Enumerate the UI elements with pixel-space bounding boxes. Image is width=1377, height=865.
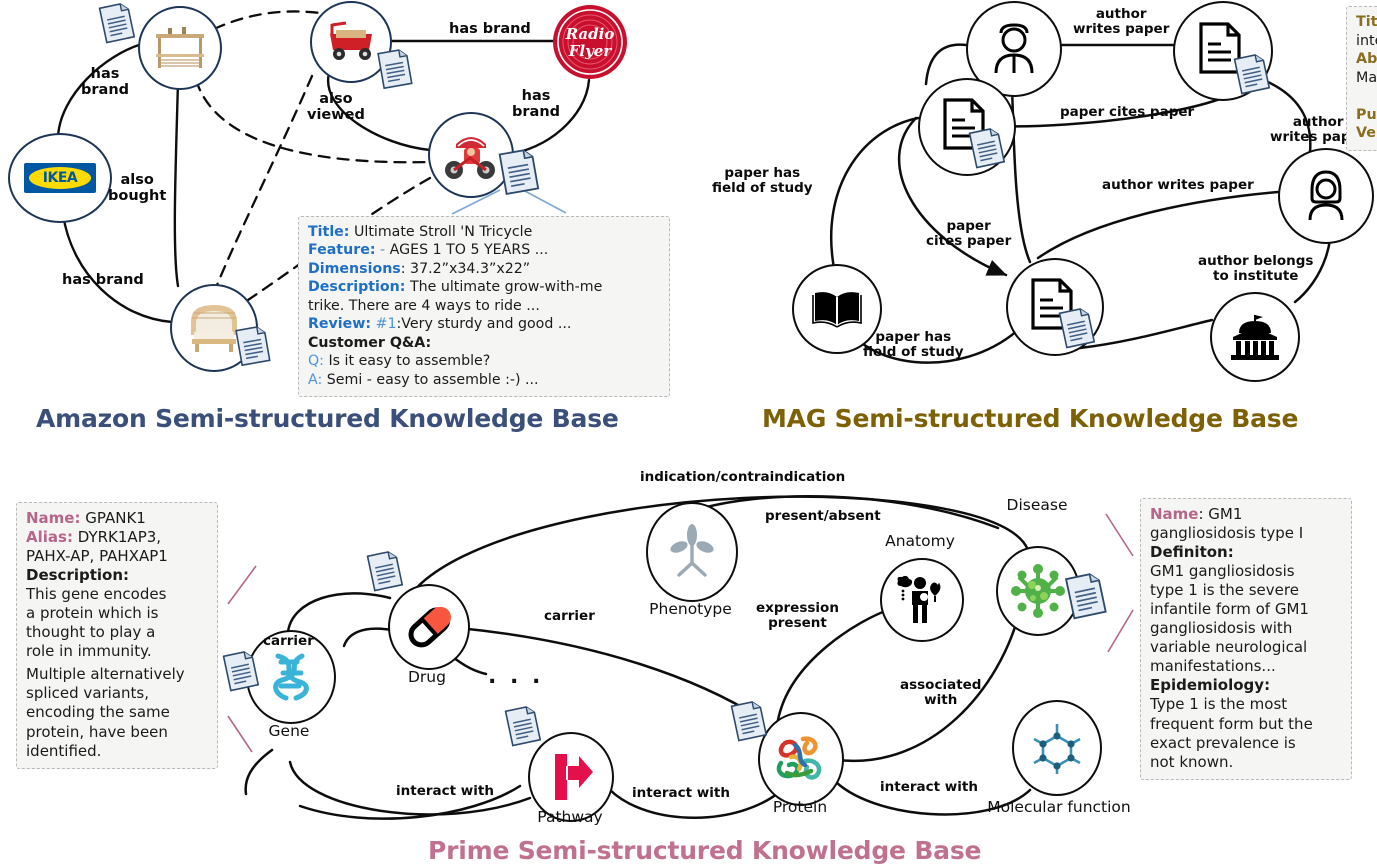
prime-edge-label-associated-with: associated with [900, 678, 981, 708]
amazon-panel-title: Amazon Semi-structured Knowledge Base [36, 404, 619, 433]
disease-card-epi-l4: not known. [1150, 753, 1342, 772]
amazon-edge-label-has-brand-4: has brand [512, 88, 560, 120]
disease-card-epi-l1: Type 1 is the most [1150, 695, 1342, 714]
paper-doc-icon-wagon [376, 48, 414, 90]
gene-card-desc-l1: This gene encodes [26, 585, 208, 604]
paper-doc-icon-tricycle [497, 148, 541, 196]
prime-node-label-phenotype: Phenotype [643, 600, 738, 618]
amazon-node-ikea[interactable]: IKEA [8, 133, 112, 223]
prime-node-label-disease: Disease [1000, 496, 1074, 514]
prime-edge-label-interact-pathway-protein: interact with [632, 786, 730, 801]
mag-card-venue-row: Venue: Chinese Physics B [1356, 124, 1377, 143]
prime-panel-title: Prime Semi-structured Knowledge Base [428, 836, 981, 865]
mag-card-abstract-row: Abstract: We study non- [1356, 50, 1377, 69]
callout-gene-1 [228, 566, 256, 604]
prime-disease-info-card: Name: GM1 gangliosidosis type I Definito… [1140, 498, 1352, 780]
edge-ikea-armchair [63, 214, 172, 322]
disease-card-def-l2: type 1 is the severe [1150, 581, 1342, 600]
amazon-card-feature-val: AGES 1 TO 5 YEARS ... [390, 242, 549, 258]
author-female-icon [1300, 168, 1352, 224]
gene-card-name-key: Name: [26, 509, 80, 527]
institute-building-icon [1227, 311, 1283, 363]
amazon-card-dimensions-val: : 37.2”x34.3”x22” [401, 261, 530, 277]
edge-gene-drug-carrier [288, 593, 390, 632]
paper-doc-icon-armchair [234, 325, 272, 367]
plant-sprout-icon [667, 523, 717, 581]
gene-card-desc-l3: thought to play a [26, 623, 208, 642]
radio-flyer-logo: Radio Flyer [552, 4, 628, 80]
disease-card-epi-l2: frequent form but the [1150, 715, 1342, 734]
disease-card-definition-key: Definiton: [1150, 543, 1342, 562]
amazon-card-review-row: Review: #1:Very sturdy and good ... [308, 315, 660, 333]
amazon-node-radio-flyer-brand[interactable]: Radio Flyer [552, 4, 628, 80]
prime-node-molecular-function[interactable] [1012, 700, 1102, 796]
mag-edge-label-author-writes-paper-3: author writes paper [1102, 178, 1254, 193]
gene-card-desc-l2: a protein which is [26, 604, 208, 623]
mag-paper-doc-icon-center-left [968, 127, 1006, 169]
amazon-card-feature-row: Feature: - AGES 1 TO 5 YEARS ... [308, 241, 660, 259]
mag-edge-label-paper-has-field-of-study-1: paper has field of study [712, 166, 813, 196]
pill-capsule-icon [402, 600, 456, 654]
prime-doc-icon-pathway [504, 705, 542, 747]
disease-card-name-val: : GM1 [1198, 505, 1242, 523]
amazon-card-description-row2: trike. There are 4 ways to ride ... [308, 297, 660, 315]
prime-node-label-anatomy: Anatomy [879, 532, 961, 550]
paper-doc-icon-shelf [98, 2, 136, 44]
amazon-card-a-row: A: Semi - easy to assemble :-) ... [308, 371, 660, 389]
mag-panel-title: MAG Semi-structured Knowledge Base [762, 404, 1298, 433]
amazon-node-shelf-product[interactable] [138, 6, 222, 90]
mag-node-institute[interactable] [1210, 292, 1300, 382]
edge-dashed-shelf-wagon [214, 11, 328, 29]
gene-card-desc-l6: spliced variants, [26, 684, 208, 703]
prime-edge-label-interact-protein-molfunc: interact with [880, 780, 978, 795]
prime-edge-label-indication: indication/contraindication [640, 470, 845, 485]
gene-card-desc-l5: Multiple alternatively [26, 665, 208, 684]
prime-node-label-protein: Protein [764, 798, 836, 816]
mag-card-venue-key: Venue: [1356, 125, 1377, 141]
disease-card-def-l1: GM1 gangliosidosis [1150, 562, 1342, 581]
prime-edge-label-carrier-gene-drug: carrier [263, 634, 314, 649]
svg-text:Flyer: Flyer [568, 42, 613, 60]
disease-card-name-row: Name: GM1 [1150, 505, 1342, 524]
mag-paper-info-card: Title: Distribution of non-Markovian int… [1346, 6, 1377, 151]
prime-ellipsis: . . . [488, 664, 543, 689]
protein-structure-icon [773, 731, 829, 787]
edge-drug-left-stub [344, 629, 392, 646]
prime-node-label-molecular-function: Molecular function [983, 798, 1135, 816]
gene-card-alias-row: Alias: DYRK1AP3, [26, 528, 208, 547]
disease-card-def-l4: gangliosidosis with [1150, 619, 1342, 638]
amazon-panel: IKEA [0, 0, 690, 400]
amazon-card-description-key: Description: [308, 279, 405, 295]
gene-card-name-val: GPANK1 [85, 509, 146, 527]
prime-node-label-pathway: Pathway [533, 808, 607, 826]
amazon-card-q-row: Q: Is it easy to assemble? [308, 352, 660, 370]
gene-card-desc-l9: identified. [26, 742, 208, 761]
mag-paper-doc-icon-bottom [1058, 307, 1096, 349]
amazon-edge-label-has-brand-2: has brand [62, 272, 144, 288]
amazon-card-description-val: The ultimate grow-with-me [410, 279, 602, 295]
gene-card-alias-val: DYRK1AP3, [78, 528, 161, 546]
mag-edge-label-paper-has-field-of-study-2: paper has field of study [863, 330, 964, 360]
mag-edge-label-author-writes-paper-1: author writes paper [1073, 7, 1169, 37]
amazon-edge-label-has-brand-1: has brand [81, 66, 129, 98]
prime-node-label-gene: Gene [261, 722, 317, 740]
amazon-card-qa-key: Customer Q&A: [308, 334, 660, 352]
disease-card-name-key: Name [1150, 505, 1198, 523]
gene-card-description-key: Description: [26, 566, 208, 585]
amazon-card-feature-key: Feature: [308, 242, 376, 258]
virus-icon [1009, 562, 1067, 620]
pathway-arrow-icon [545, 750, 597, 804]
prime-node-protein[interactable] [758, 712, 844, 806]
prime-gene-info-card: Name: GPANK1 Alias: DYRK1AP3, PAHX-AP, P… [16, 502, 218, 769]
edge-gene-left-stub [246, 750, 272, 794]
amazon-card-a-key: A: [308, 372, 322, 388]
disease-card-epi-l3: exact prevalence is [1150, 734, 1342, 753]
prime-doc-icon-protein [730, 700, 768, 742]
amazon-edge-label-has-brand-3: has brand [449, 21, 531, 37]
mag-card-title-row2: intervals for open qubit systems [1356, 32, 1377, 51]
amazon-edge-label-also-bought: also bought [108, 172, 166, 204]
prime-node-phenotype[interactable] [646, 502, 738, 602]
gene-card-desc-l8: protein, have been [26, 723, 208, 742]
amazon-product-info-card: Title: Ultimate Stroll 'N Tricycle Featu… [298, 216, 670, 397]
callout-gene-2 [228, 716, 252, 752]
gene-card-desc-l4: role in immunity. [26, 642, 208, 661]
amazon-card-review-key: Review: [308, 316, 371, 332]
mag-card-title-key: Title: [1356, 14, 1377, 30]
amazon-card-review-num: #1 [376, 316, 397, 332]
mag-edge-label-paper-cites-paper-1: paper cites paper [1060, 105, 1194, 120]
mag-card-pubdate-key: Publication Date [1356, 107, 1377, 123]
mag-card-abstract-key: Abstract: [1356, 51, 1377, 67]
prime-panel: Gene Drug Phenotype [0, 450, 1377, 840]
amazon-card-feature-dash: - [380, 242, 385, 258]
amazon-card-q-key: Q: [308, 353, 324, 369]
disease-card-name-row2: gangliosidosis type I [1150, 524, 1342, 543]
author-male-icon [988, 21, 1040, 77]
mag-card-title-row: Title: Distribution of non-Markovian [1356, 13, 1377, 32]
prime-node-label-drug: Drug [399, 668, 455, 686]
edge-fos-papercl [831, 118, 918, 268]
mag-paper-doc-icon-top-right [1233, 53, 1271, 95]
edge-authorf-paperbottom [1038, 192, 1278, 258]
amazon-card-title-key: Title: [308, 224, 349, 240]
amazon-card-dimensions-key: Dimensions [308, 261, 401, 277]
mag-node-author-female[interactable] [1278, 148, 1374, 244]
prime-doc-icon-disease [1064, 572, 1108, 620]
gene-card-alias-row2: PAHX-AP, PAHXAP1 [26, 547, 208, 566]
mag-card-abstract-row2: Markovianity of open qubit systems [1356, 69, 1377, 88]
mag-edge-label-author-belongs-institute: author belongs to institute [1198, 254, 1313, 284]
amazon-card-title-row: Title: Ultimate Stroll 'N Tricycle [308, 223, 660, 241]
amazon-card-dimensions-row: Dimensions: 37.2”x34.3”x22” [308, 260, 660, 278]
gene-card-desc-l7: encoding the same [26, 703, 208, 722]
mag-panel: author writes paper paper cites paper au… [670, 0, 1377, 400]
amazon-card-review-val: :Very sturdy and good ... [397, 316, 572, 332]
disease-card-def-l6: manifestations... [1150, 657, 1342, 676]
human-anatomy-icon [894, 575, 950, 625]
amazon-card-description-row: Description: The ultimate grow-with-me [308, 278, 660, 296]
ikea-logo: IKEA [24, 163, 96, 193]
gene-card-name-row: Name: GPANK1 [26, 509, 208, 528]
prime-doc-icon-gene [222, 650, 260, 692]
dna-icon [264, 648, 318, 706]
prime-edge-label-carrier-drug-protein: carrier [544, 609, 595, 624]
red-wagon-product [322, 20, 380, 64]
prime-edge-label-expression-present: expression present [756, 601, 839, 631]
prime-doc-icon-drug [366, 550, 404, 592]
callout-disease-2 [1108, 610, 1133, 652]
open-book-icon [810, 287, 864, 331]
prime-node-anatomy[interactable] [880, 558, 964, 642]
amazon-card-a-val: Semi - easy to assemble :-) ... [327, 372, 539, 388]
edge-authorm-paperbottom [1012, 84, 1030, 262]
amazon-card-q-val: Is it easy to assemble? [328, 353, 490, 369]
mag-card-ellipsis: ... [1356, 87, 1377, 106]
prime-edge-label-interact-gene-pathway: interact with [396, 784, 494, 799]
gene-card-alias-key: Alias: [26, 528, 73, 546]
prime-node-drug[interactable] [388, 584, 470, 670]
wooden-shelf-product [152, 22, 208, 74]
amazon-edge-label-also-viewed: also viewed [307, 91, 365, 123]
mag-card-pubdate-row: Publication Date: 2011-11-01 [1356, 106, 1377, 125]
disease-card-def-l5: variable neurological [1150, 638, 1342, 657]
hexagon-molecule-icon [1030, 720, 1084, 776]
callout-disease-1 [1106, 514, 1133, 556]
disease-card-epidemiology-key: Epidemiology: [1150, 676, 1342, 695]
mag-edge-label-paper-cites-paper-2: paper cites paper [926, 219, 1011, 249]
disease-card-def-l3: infantile form of GM1 [1150, 600, 1342, 619]
red-tricycle-product [440, 128, 502, 182]
edge-shelf-armchair [175, 81, 178, 286]
amazon-card-title-val: Ultimate Stroll 'N Tricycle [354, 224, 532, 240]
prime-edge-label-present-absent: present/absent [765, 509, 881, 524]
svg-text:Radio: Radio [565, 25, 615, 43]
